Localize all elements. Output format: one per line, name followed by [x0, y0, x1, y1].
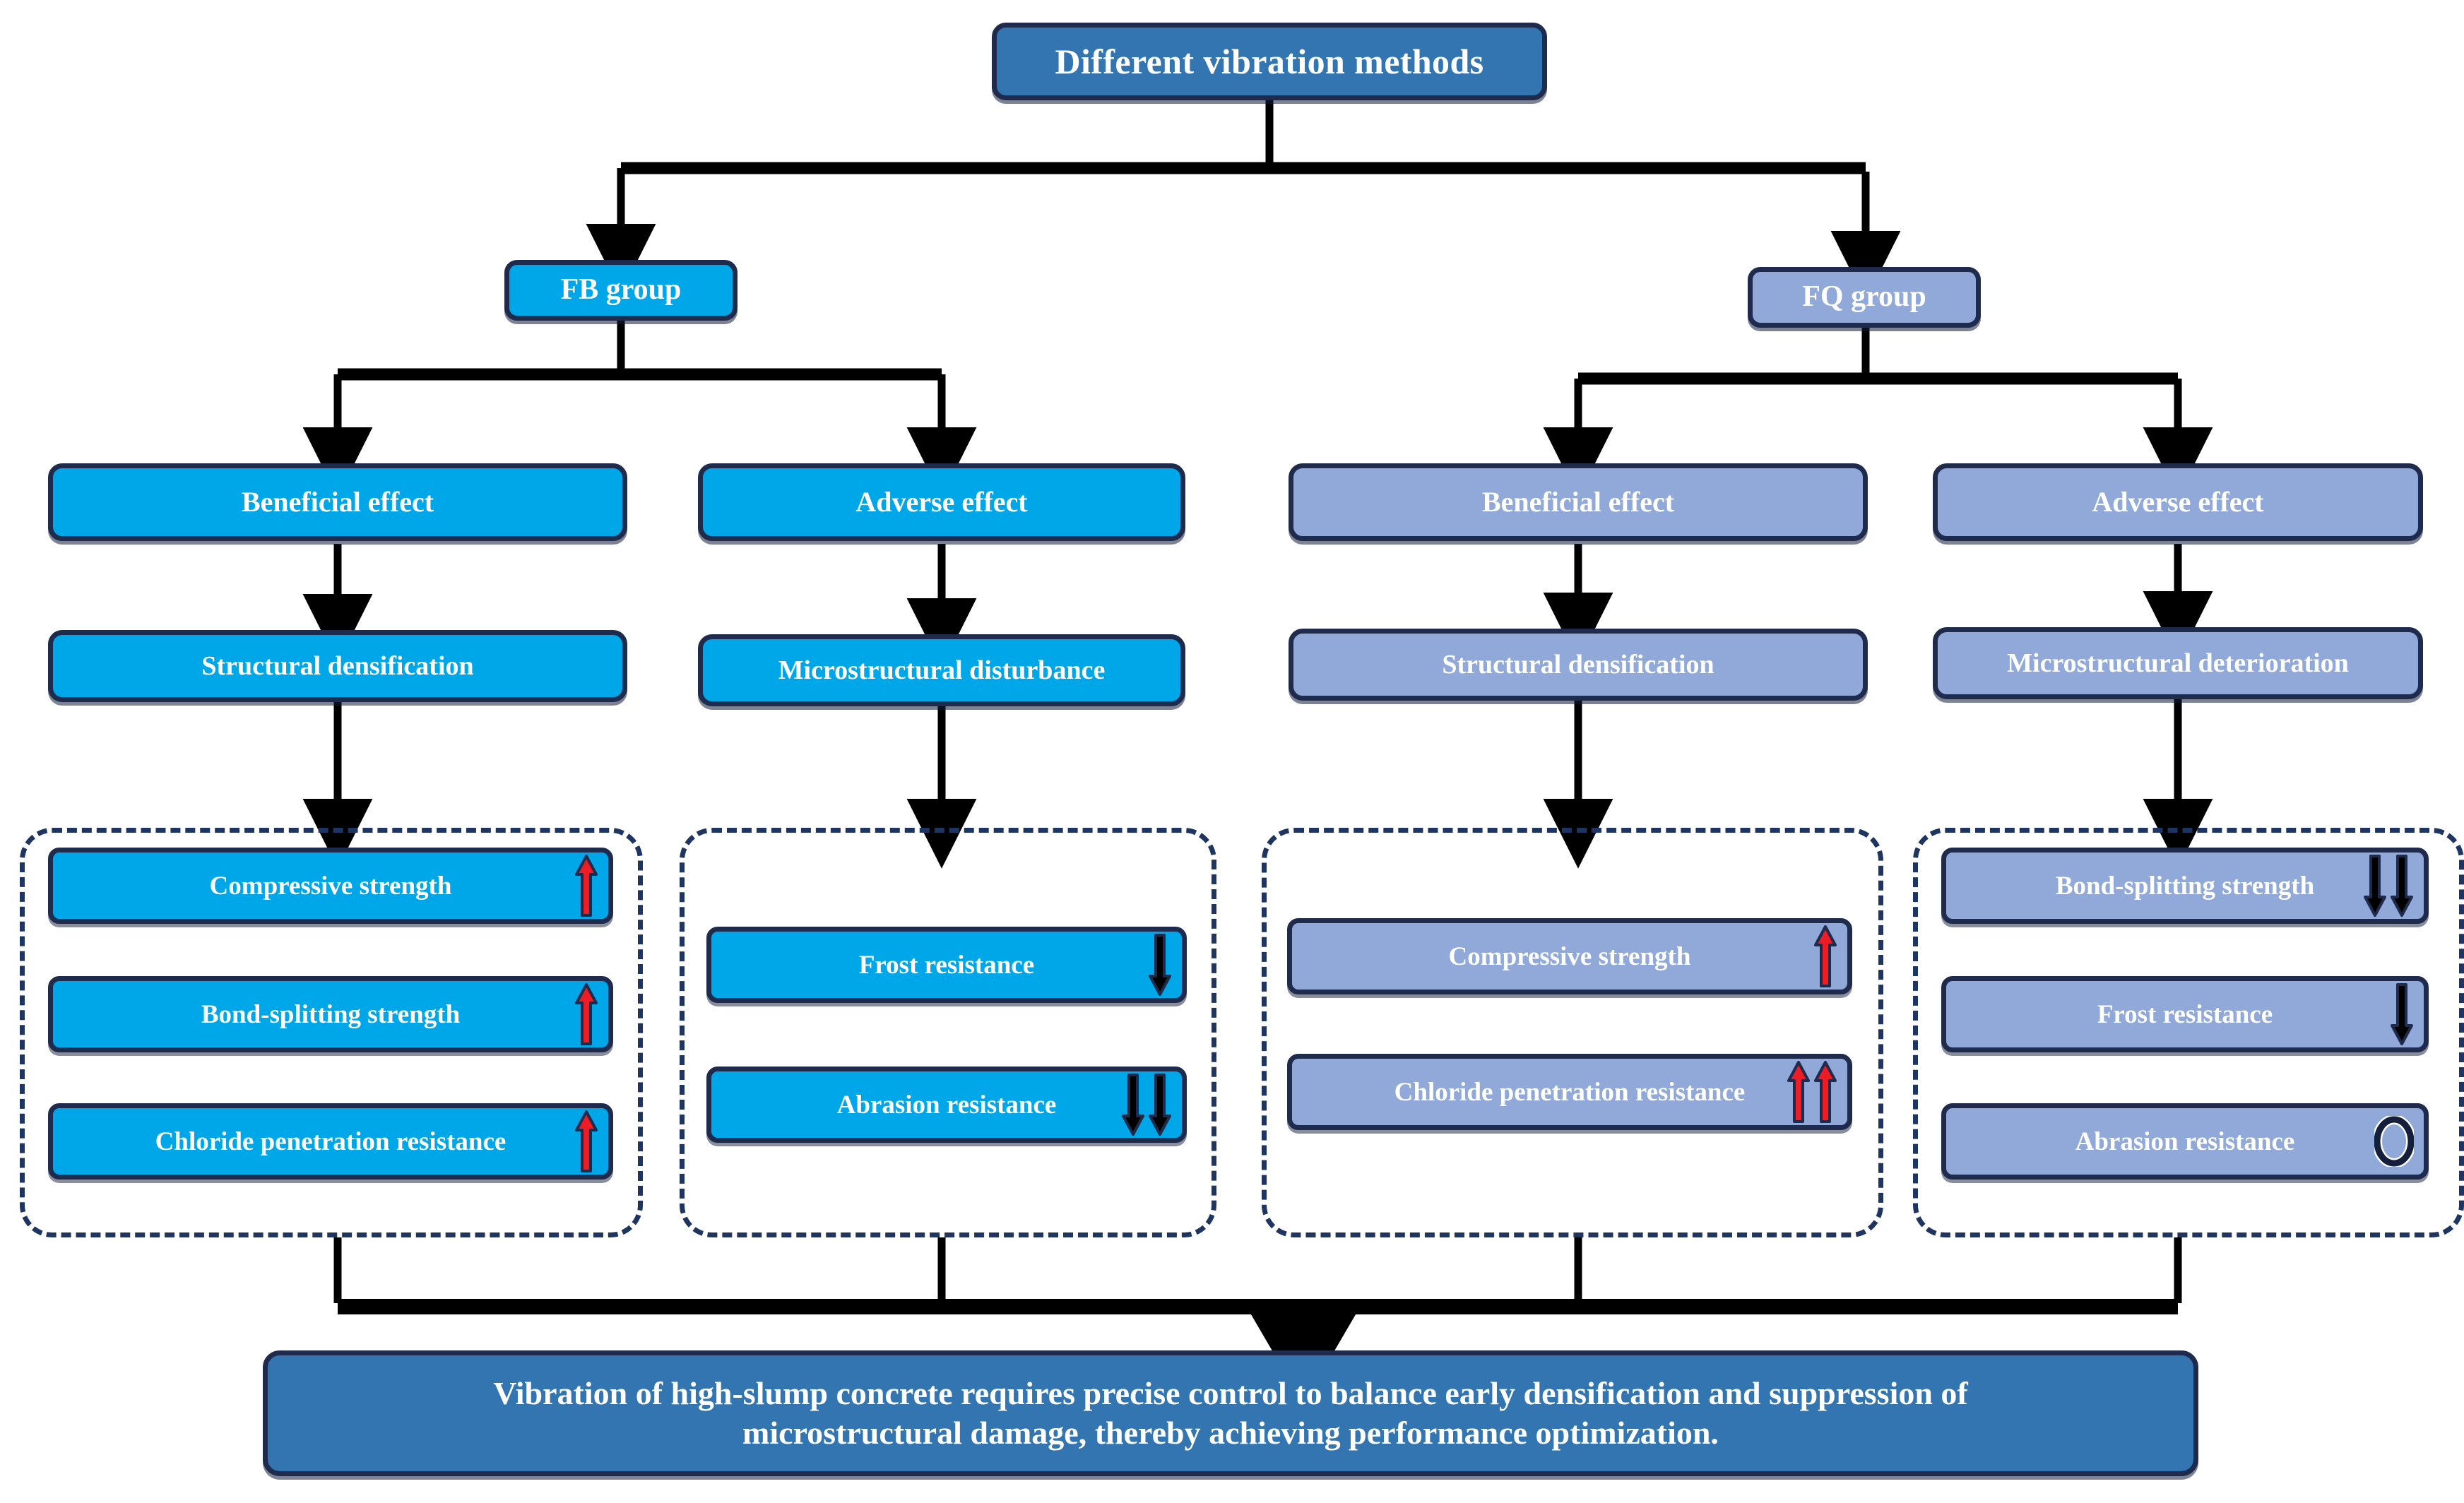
conclusion-line-1: Vibration of high-slump concrete require…: [493, 1374, 1968, 1413]
outcome-label: Chloride penetration resistance: [155, 1127, 507, 1157]
up-arrow-icon: [1813, 1059, 1837, 1124]
mechanism-box-fb-adverse[interactable]: Microstructural disturbance: [698, 634, 1185, 706]
down-arrow-icon: [1121, 1072, 1145, 1137]
up-arrow-icon: [574, 982, 598, 1047]
outcome-label: Chloride penetration resistance: [1394, 1077, 1746, 1107]
mechanism-label: Microstructural disturbance: [778, 655, 1106, 686]
outcome-chip[interactable]: Bond-splitting strength: [1941, 848, 2429, 924]
outcome-label: Compressive strength: [210, 871, 452, 901]
down-arrow-icon: [2363, 853, 2387, 918]
group-box-fq[interactable]: FQ group: [1748, 267, 1981, 328]
mechanism-box-fb-beneficial[interactable]: Structural densification: [48, 630, 627, 702]
down-arrow-icon: [2390, 853, 2414, 918]
outcome-indicator-group: [1148, 932, 1172, 998]
root-title-box[interactable]: Different vibration methods: [992, 23, 1547, 100]
outcome-label: Compressive strength: [1449, 941, 1691, 972]
mechanism-label: Structural densification: [1442, 650, 1714, 680]
outcome-label: Bond-splitting strength: [2056, 871, 2314, 901]
conclusion-box[interactable]: Vibration of high-slump concrete require…: [263, 1350, 2198, 1476]
outcome-label: Frost resistance: [859, 950, 1034, 980]
mechanism-box-fq-adverse[interactable]: Microstructural deterioration: [1933, 627, 2423, 699]
up-arrow-icon: [574, 1109, 598, 1174]
down-arrow-icon: [1148, 1072, 1172, 1137]
effect-label: Beneficial effect: [1482, 487, 1674, 518]
effect-box-fb-beneficial[interactable]: Beneficial effect: [48, 463, 627, 541]
outcome-indicator-group: [1813, 923, 1837, 990]
effect-label: Beneficial effect: [242, 487, 434, 518]
outcome-chip[interactable]: Frost resistance: [1941, 976, 2429, 1052]
outcome-chip[interactable]: Abrasion resistance: [706, 1067, 1187, 1143]
outcome-group-fq-beneficial: [1262, 828, 1883, 1237]
effect-box-fq-adverse[interactable]: Adverse effect: [1933, 463, 2423, 541]
down-arrow-icon: [2390, 982, 2414, 1047]
flowchart-canvas: Different vibration methods FB group FQ …: [0, 0, 2464, 1503]
up-arrow-icon: [1813, 924, 1837, 989]
root-title-label: Different vibration methods: [1055, 42, 1483, 81]
effect-label: Adverse effect: [855, 487, 1027, 518]
outcome-indicator-group: [1787, 1059, 1837, 1125]
conclusion-line-2: microstructural damage, thereby achievin…: [742, 1413, 1719, 1453]
effect-box-fq-beneficial[interactable]: Beneficial effect: [1289, 463, 1868, 541]
up-arrow-icon: [574, 853, 598, 918]
mechanism-label: Structural densification: [201, 651, 473, 682]
outcome-chip[interactable]: Compressive strength: [1287, 918, 1852, 994]
outcome-label: Bond-splitting strength: [201, 999, 460, 1030]
outcome-label: Frost resistance: [2097, 999, 2273, 1030]
outcome-indicator-group: [2363, 853, 2414, 919]
down-arrow-icon: [1148, 932, 1172, 997]
outcome-chip[interactable]: Chloride penetration resistance: [48, 1103, 613, 1180]
outcome-chip[interactable]: Abrasion resistance: [1941, 1103, 2429, 1180]
group-label-fq: FQ group: [1802, 280, 1926, 314]
up-arrow-icon: [1787, 1059, 1811, 1124]
outcome-chip[interactable]: Frost resistance: [706, 927, 1187, 1003]
outcome-chip[interactable]: Bond-splitting strength: [48, 976, 613, 1052]
outcome-group-fb-adverse: [680, 828, 1216, 1237]
outcome-chip[interactable]: Chloride penetration resistance: [1287, 1054, 1852, 1130]
connector-layer: [0, 0, 2464, 1503]
group-box-fb[interactable]: FB group: [504, 260, 738, 321]
effect-label: Adverse effect: [2092, 487, 2263, 518]
outcome-indicator-group: [574, 981, 598, 1047]
outcome-chip[interactable]: Compressive strength: [48, 848, 613, 924]
outcome-indicator-group: [574, 853, 598, 919]
mechanism-label: Microstructural deterioration: [2007, 648, 2349, 679]
outcome-label: Abrasion resistance: [2075, 1127, 2295, 1157]
effect-box-fb-adverse[interactable]: Adverse effect: [698, 463, 1185, 541]
outcome-indicator-group: [2374, 1108, 2414, 1175]
group-label-fb: FB group: [561, 273, 682, 307]
mechanism-box-fq-beneficial[interactable]: Structural densification: [1289, 629, 1868, 701]
outcome-indicator-group: [574, 1108, 598, 1175]
outcome-indicator-group: [2390, 981, 2414, 1047]
outcome-indicator-group: [1121, 1071, 1172, 1138]
ring-icon: [2374, 1116, 2414, 1167]
outcome-label: Abrasion resistance: [837, 1090, 1057, 1120]
